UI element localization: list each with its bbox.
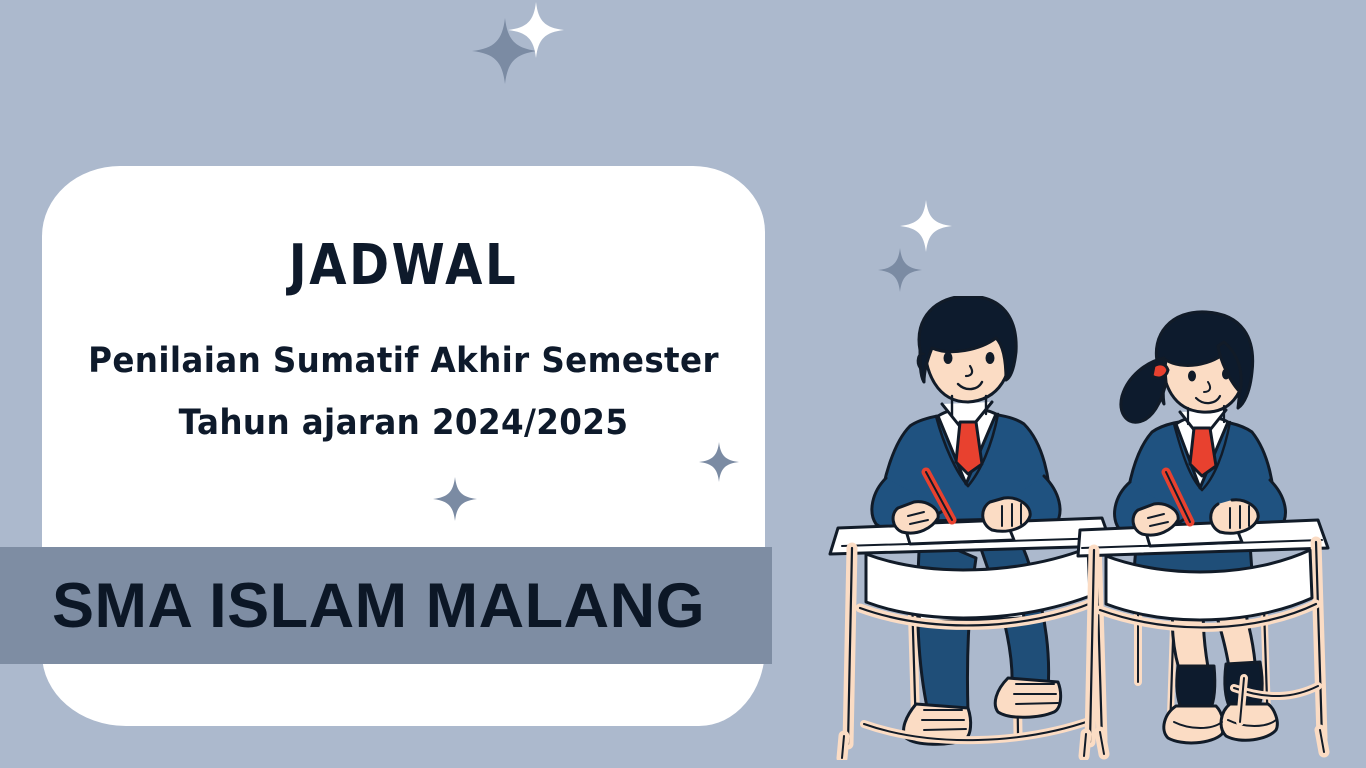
headline-block: JADWAL Penilaian Sumatif Akhir Semester … [42,166,765,441]
sparkle-white-top-left [508,2,564,58]
students-illustration [820,296,1340,760]
school-banner: SMA ISLAM MALANG [0,547,772,664]
student-girl-figure [1078,312,1328,756]
sparkle-gray-upper-right [878,248,922,292]
page-title: JADWAL [93,238,715,294]
student-boy-figure [830,296,1112,758]
sparkle-white-upper-right [900,200,952,252]
sparkle-gray-top-left [472,18,538,84]
subtitle-line-2: Tahun ajaran 2024/2025 [67,406,739,441]
poster-canvas: JADWAL Penilaian Sumatif Akhir Semester … [0,0,1366,768]
subtitle-line-1: Penilaian Sumatif Akhir Semester [67,344,739,379]
school-name: SMA ISLAM MALANG [52,570,705,642]
